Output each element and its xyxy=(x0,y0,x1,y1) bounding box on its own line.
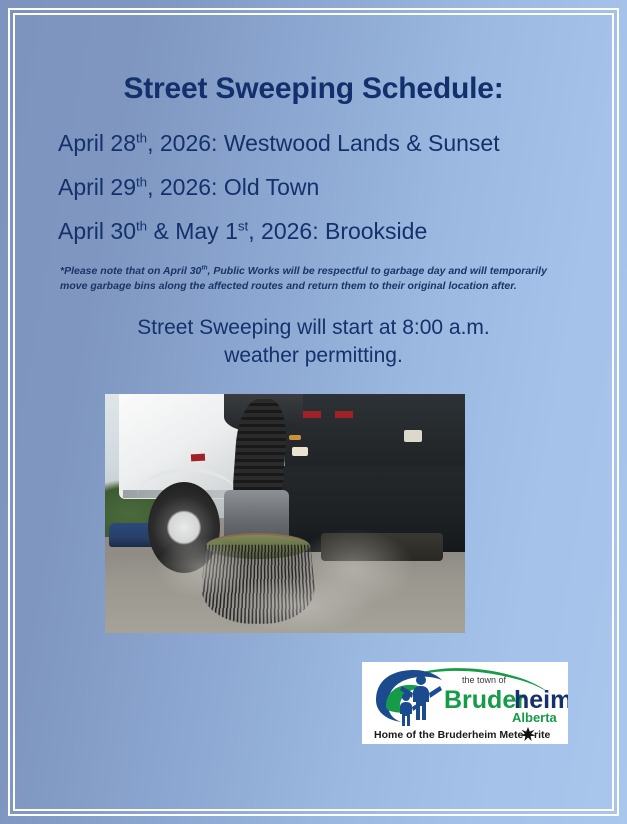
photo-work-lamp-1 xyxy=(292,447,308,457)
start-time-line-2: weather permitting. xyxy=(70,342,557,370)
photo-amber-light xyxy=(289,435,302,440)
street-sweeping-poster: Street Sweeping Schedule: April 28th, 20… xyxy=(0,0,627,824)
note-part-1: *Please note that on April 30 xyxy=(60,265,201,277)
logo-tagline-top: the town of xyxy=(462,675,507,685)
schedule-item-1: April 28th, 2026: Westwood Lands & Sunse… xyxy=(58,132,607,155)
schedule-item-1-ordinal: th xyxy=(136,130,147,145)
schedule-item-2-rest: , 2026: Old Town xyxy=(147,174,319,200)
logo-footer-post: rite xyxy=(534,729,551,741)
start-time-statement: Street Sweeping will start at 8:00 a.m. … xyxy=(20,314,607,369)
logo-adult-head-icon xyxy=(416,675,426,685)
logo-adult-arm-right-icon xyxy=(429,686,442,698)
schedule-item-2-day: April 29 xyxy=(58,174,136,200)
photo-red-reflector-2 xyxy=(335,411,353,418)
logo-adult-body-icon xyxy=(413,686,429,720)
logo-footer-pre: Home of the Bruderheim Mete xyxy=(374,729,524,741)
logo-child-body-icon xyxy=(400,702,412,726)
schedule-item-3-mid: & May 1 xyxy=(147,218,238,244)
logo-province: Alberta xyxy=(512,710,558,725)
schedule-item-3-ordinal: th xyxy=(136,218,147,233)
photo-red-reflector-3 xyxy=(191,453,206,461)
garbage-day-note: *Please note that on April 30th, Public … xyxy=(20,264,607,294)
page-title: Street Sweeping Schedule: xyxy=(20,72,607,106)
photo-red-reflector-1 xyxy=(303,411,321,418)
photo-canvas xyxy=(105,394,465,633)
photo-dust-cloud-3 xyxy=(227,576,371,633)
schedule-item-3-day: April 30 xyxy=(58,218,136,244)
logo-child-head-icon xyxy=(402,693,410,701)
schedule-item-3: April 30th & May 1st, 2026: Brookside xyxy=(58,220,607,243)
street-sweeper-photo xyxy=(105,394,465,633)
photo-work-lamp-2 xyxy=(404,430,422,442)
schedule-item-1-day: April 28 xyxy=(58,130,136,156)
schedule-list: April 28th, 2026: Westwood Lands & Sunse… xyxy=(20,132,607,243)
bruderheim-logo: the town of Bruder heim Alberta Home of … xyxy=(362,662,568,744)
bruderheim-logo-svg: the town of Bruder heim Alberta Home of … xyxy=(362,662,568,744)
schedule-item-2-ordinal: th xyxy=(136,174,147,189)
schedule-item-1-rest: , 2026: Westwood Lands & Sunset xyxy=(147,130,499,156)
start-time-line-1: Street Sweeping will start at 8:00 a.m. xyxy=(70,314,557,342)
schedule-item-3-ordinal-2: st xyxy=(238,218,248,233)
schedule-item-2: April 29th, 2026: Old Town xyxy=(58,176,607,199)
schedule-item-3-rest: , 2026: Brookside xyxy=(248,218,427,244)
